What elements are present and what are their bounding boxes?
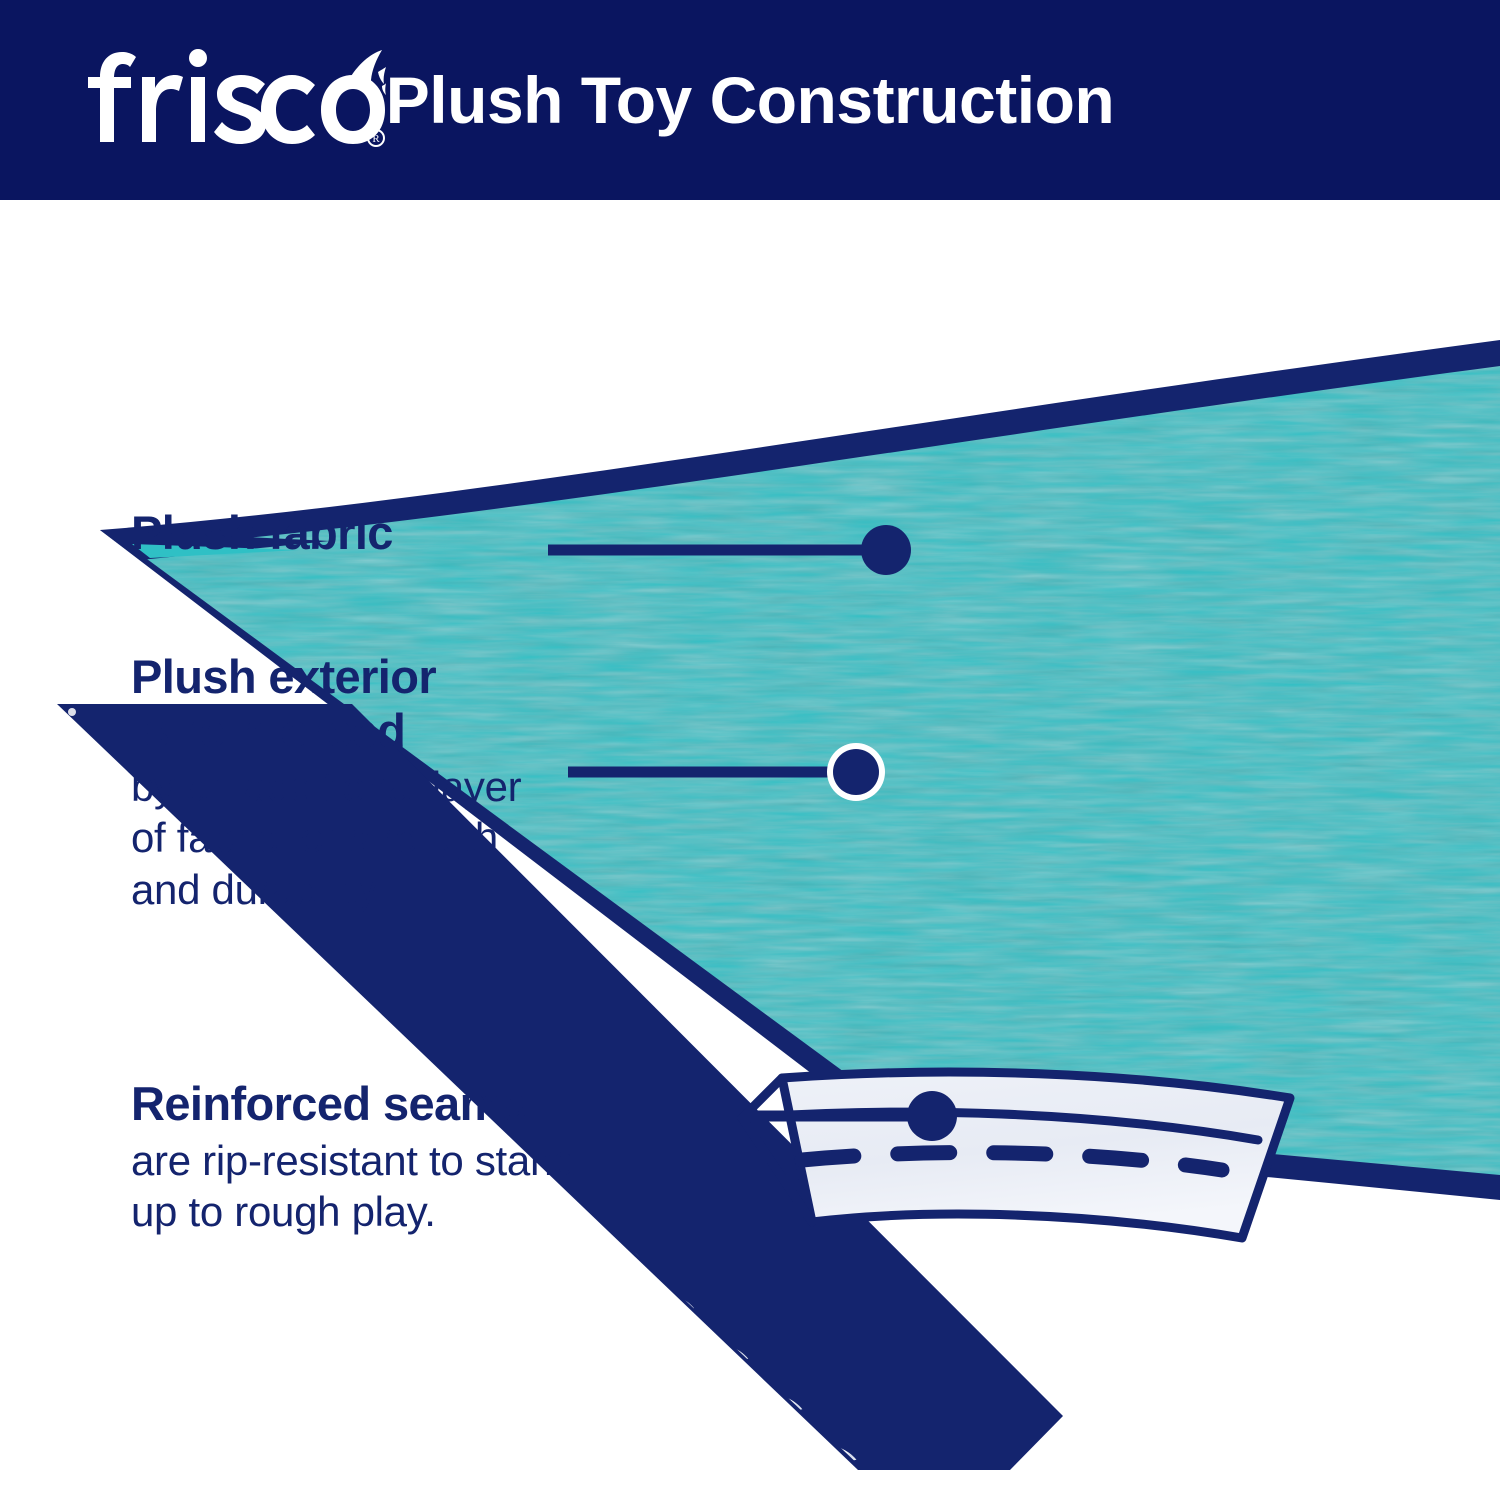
callout-body: are rip-resistant to stand up to rough p… [131, 1135, 576, 1237]
leader-dot-plush-exterior [833, 749, 879, 795]
header-bar: R Plush Toy Construction [0, 0, 1500, 200]
leader-dot-plush-fabric [861, 525, 911, 575]
callout-plush-fabric: Plush fabric [131, 506, 393, 564]
seam-flap-layer [742, 1070, 1290, 1240]
callout-plush-exterior-reinforced: Plush exterior is reinforced by an addit… [131, 650, 521, 915]
callout-body: by an additional layer of fabric for str… [131, 761, 521, 915]
leader-dot-reinforced-seams [907, 1091, 957, 1141]
callout-title: Plush fabric [131, 506, 393, 560]
callout-reinforced-seams: Reinforced seams are rip-resistant to st… [131, 1077, 576, 1237]
callout-title: Plush exterior is reinforced [131, 650, 521, 757]
svg-text:R: R [372, 133, 380, 145]
frisco-logo: R [86, 48, 386, 152]
frisco-logo-svg: R [86, 48, 386, 152]
infographic-page: R Plush Toy Construction [0, 0, 1500, 1500]
callout-title: Reinforced seams [131, 1077, 576, 1131]
